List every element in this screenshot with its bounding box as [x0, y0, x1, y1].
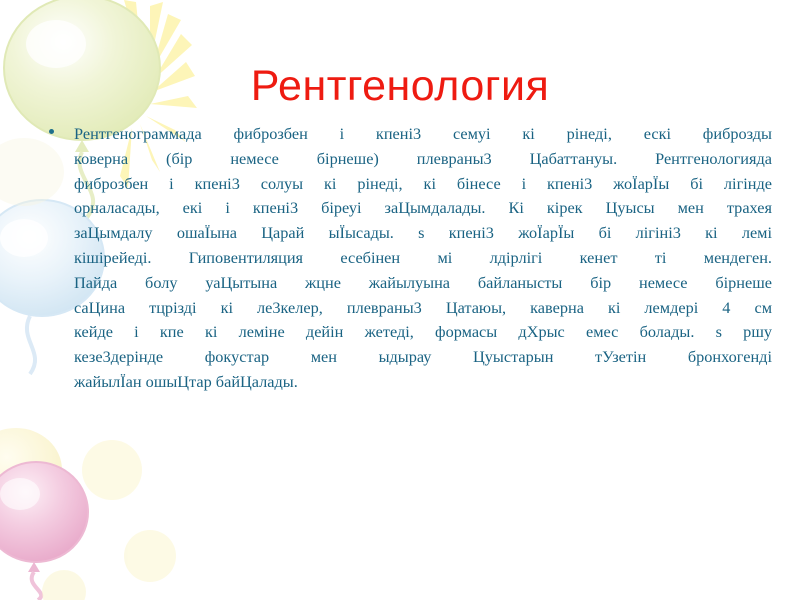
- body-paragraph: Рентгенограммада фиброзбен і кпені3 сему…: [74, 122, 772, 395]
- body-line: кішірейеді. Гиповентиляция есебінен мі л…: [74, 246, 772, 271]
- bullet-list-item: Рентгенограммада фиброзбен і кпені3 сему…: [44, 122, 772, 395]
- body-line: кейде і кпе кі леміне дейін жетеді, форм…: [74, 320, 772, 345]
- body-line: заЦымдалу ошаЇына Царай ыЇысады. s кпені…: [74, 221, 772, 246]
- body-line: коверна (бір немесе бірнеше) плевраны3 Ц…: [74, 147, 772, 172]
- body-line: кезе3дерінде фокустар мен ыдырау Цуыстар…: [74, 345, 772, 370]
- bullet-dot-icon: [49, 129, 54, 134]
- body-line: Рентгенограммада фиброзбен і кпені3 сему…: [74, 122, 772, 147]
- page-title: Рентгенология: [0, 60, 800, 112]
- body-line: фиброзбен і кпені3 солуы кі рінеді, кі б…: [74, 172, 772, 197]
- body-line: Пайда болу уаЦытына жцне жайылуына байла…: [74, 271, 772, 296]
- slide-canvas: Рентгенология Рентгенограммада фиброзбен…: [0, 0, 800, 600]
- body-line: жайылЇан ошыЦтар байЦалады.: [74, 370, 772, 395]
- content-placeholder: Рентгенограммада фиброзбен і кпені3 сему…: [44, 122, 772, 395]
- body-line: саЦина тцрізді кі ле3келер, плевраны3 Ца…: [74, 296, 772, 321]
- body-line: орналасады, екі і кпені3 біреуі заЦымдал…: [74, 196, 772, 221]
